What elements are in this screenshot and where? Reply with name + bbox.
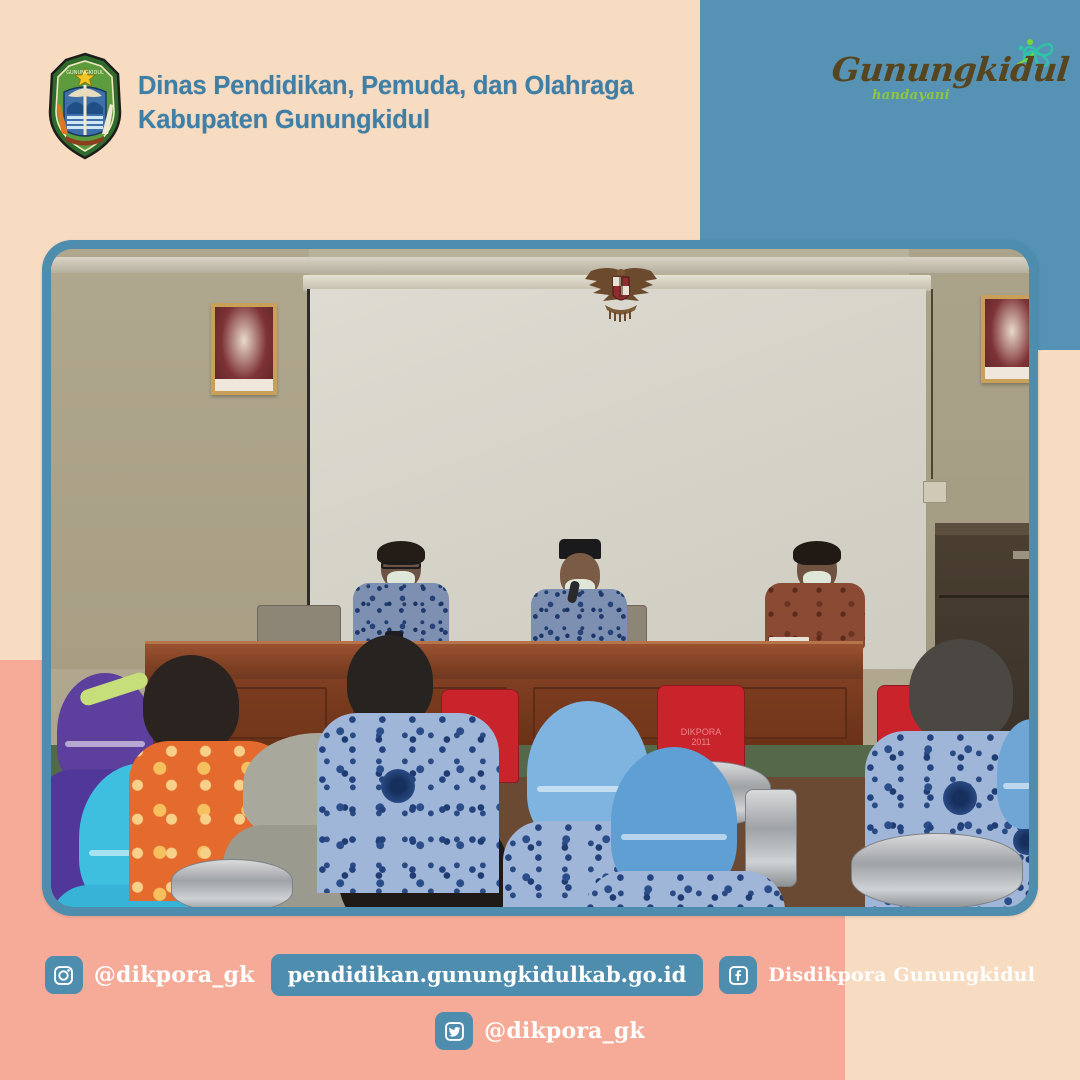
ceiling-rail [51, 257, 1029, 273]
twitter-contact[interactable]: @dikpora_gk [435, 1012, 645, 1050]
page-title: Dinas Pendidikan, Pemuda, dan Olahraga K… [138, 70, 633, 137]
chair-frame-chrome [851, 833, 1023, 907]
wordmark-tagline: handayani [872, 88, 950, 103]
garuda-pancasila-emblem-icon [583, 265, 659, 327]
twitter-icon[interactable] [435, 1012, 473, 1050]
social-media-poster: GUNUNGKIDUL Dinas Pendidikan, Pemuda, da… [0, 0, 1080, 1080]
chair-frame-chrome [171, 859, 293, 907]
twitter-handle: @dikpora_gk [484, 1018, 645, 1044]
instagram-contact[interactable]: @dikpora_gk [45, 956, 255, 994]
eyeglasses-icon [381, 562, 421, 569]
instagram-handle: @dikpora_gk [94, 962, 255, 988]
cabinet-top [935, 523, 1029, 535]
svg-text:GUNUNGKIDUL: GUNUNGKIDUL [66, 70, 104, 76]
website-url-pill[interactable]: pendidikan.gunungkidulkab.go.id [271, 954, 704, 996]
header-title-line2: Kabupaten Gunungkidul [138, 104, 633, 138]
header-title-line1: Dinas Pendidikan, Pemuda, dan Olahraga [138, 70, 633, 104]
facebook-icon[interactable] [719, 956, 757, 994]
instagram-icon[interactable] [45, 956, 83, 994]
footer-row-primary: @dikpora_gk pendidikan.gunungkidulkab.go… [0, 954, 1080, 996]
person-torso [531, 589, 627, 649]
vice-president-portrait [981, 295, 1029, 383]
audience-shoulders [585, 871, 785, 907]
person-hair [793, 541, 841, 565]
wall-socket [923, 481, 947, 503]
speaker-center [529, 541, 629, 649]
meeting-photograph: DIKPORA 2011 [51, 249, 1029, 907]
cabinet-seam [939, 595, 1029, 598]
portrait-caption-strip [215, 379, 273, 391]
facebook-page-name: Disdikpora Gunungkidul [768, 964, 1035, 986]
cabinet-knob [1013, 551, 1029, 559]
gunungkidul-regency-crest-icon: GUNUNGKIDUL [46, 52, 124, 160]
photo-frame: DIKPORA 2011 [42, 240, 1038, 916]
wall-cable [931, 289, 933, 479]
wordmark-main-text: Gunungkidul [830, 50, 1034, 89]
gunungkidul-handayani-wordmark: Gunungkidul handayani [832, 38, 1062, 130]
president-portrait [211, 303, 277, 395]
facebook-contact[interactable]: Disdikpora Gunungkidul [719, 956, 1035, 994]
korpri-emblem [381, 769, 415, 803]
footer-row-secondary: @dikpora_gk [0, 1012, 1080, 1050]
speaker-left [351, 545, 451, 649]
audience-shoulders [317, 713, 499, 893]
person-head-back [143, 655, 239, 753]
korpri-emblem [943, 781, 977, 815]
chair-label: DIKPORA 2011 [658, 728, 744, 748]
poster-footer: @dikpora_gk pendidikan.gunungkidulkab.go… [0, 940, 1080, 1080]
portrait-caption-strip [985, 367, 1029, 379]
speaker-right [763, 545, 867, 649]
person-head-back [909, 639, 1013, 743]
